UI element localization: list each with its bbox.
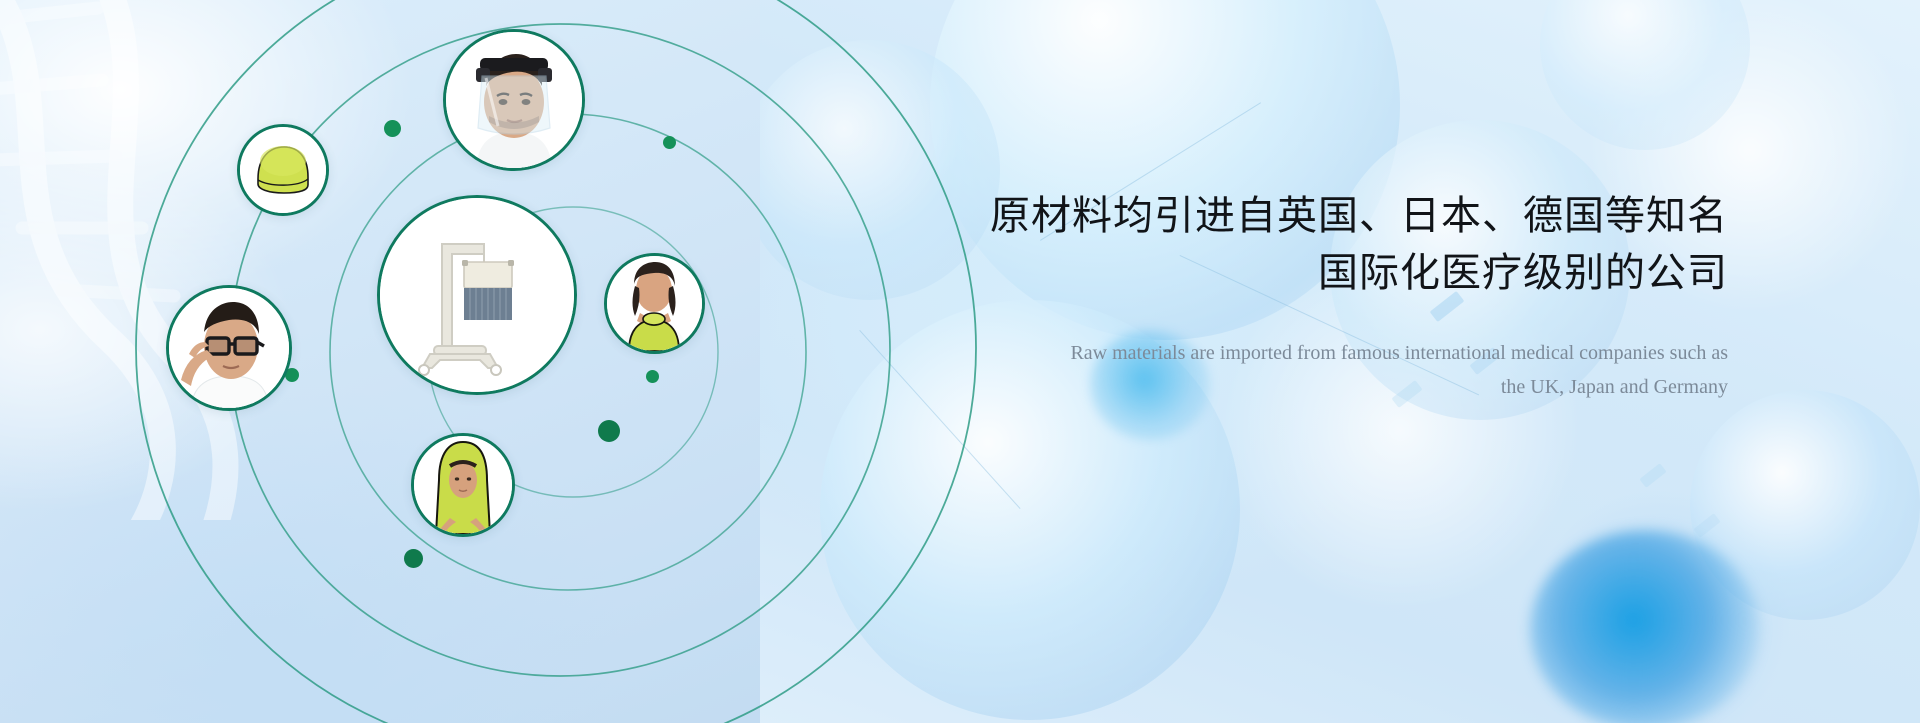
orbit-dot-bottom-center (404, 549, 423, 568)
face-shield-man-photo (443, 29, 585, 171)
thyroid-collar-woman-art (607, 256, 702, 351)
lead-apron-cap-photo (237, 124, 329, 216)
orbit-dot-lower-right (598, 420, 620, 442)
orbit-dot-mid-right (646, 370, 659, 383)
hero-subtitle-line1: Raw materials are imported from famous i… (828, 336, 1728, 370)
hero-headline: 原材料均引进自英国、日本、德国等知名 国际化医疗级别的公司 (828, 188, 1728, 302)
lead-hood-woman-art (414, 436, 512, 534)
lead-apron-cap-art (240, 127, 326, 213)
face-shield-man-art (446, 32, 582, 168)
lead-hood-woman-photo (411, 433, 515, 537)
hero-headline-line1: 原材料均引进自英国、日本、德国等知名 (990, 194, 1728, 238)
mobile-x-ray-shield-art (380, 198, 574, 392)
hero-subtitle: Raw materials are imported from famous i… (828, 336, 1728, 405)
hero-headline-line2: 国际化医疗级别的公司 (828, 245, 1728, 302)
hero-copy-block: 原材料均引进自英国、日本、德国等知名 国际化医疗级别的公司 Raw materi… (828, 188, 1728, 404)
lead-glasses-man-photo (166, 285, 292, 411)
thyroid-collar-woman-photo (604, 253, 705, 354)
orbit-dot-top-left (384, 120, 401, 137)
mobile-x-ray-shield-photo (377, 195, 577, 395)
hero-subtitle-line2: the UK, Japan and Germany (828, 370, 1728, 404)
orbit-dot-top-right (663, 136, 676, 149)
hero-banner: 原材料均引进自英国、日本、德国等知名 国际化医疗级别的公司 Raw materi… (0, 0, 1920, 723)
lead-glasses-man-art (169, 288, 289, 408)
blue-bokeh-highlight (1530, 530, 1760, 723)
